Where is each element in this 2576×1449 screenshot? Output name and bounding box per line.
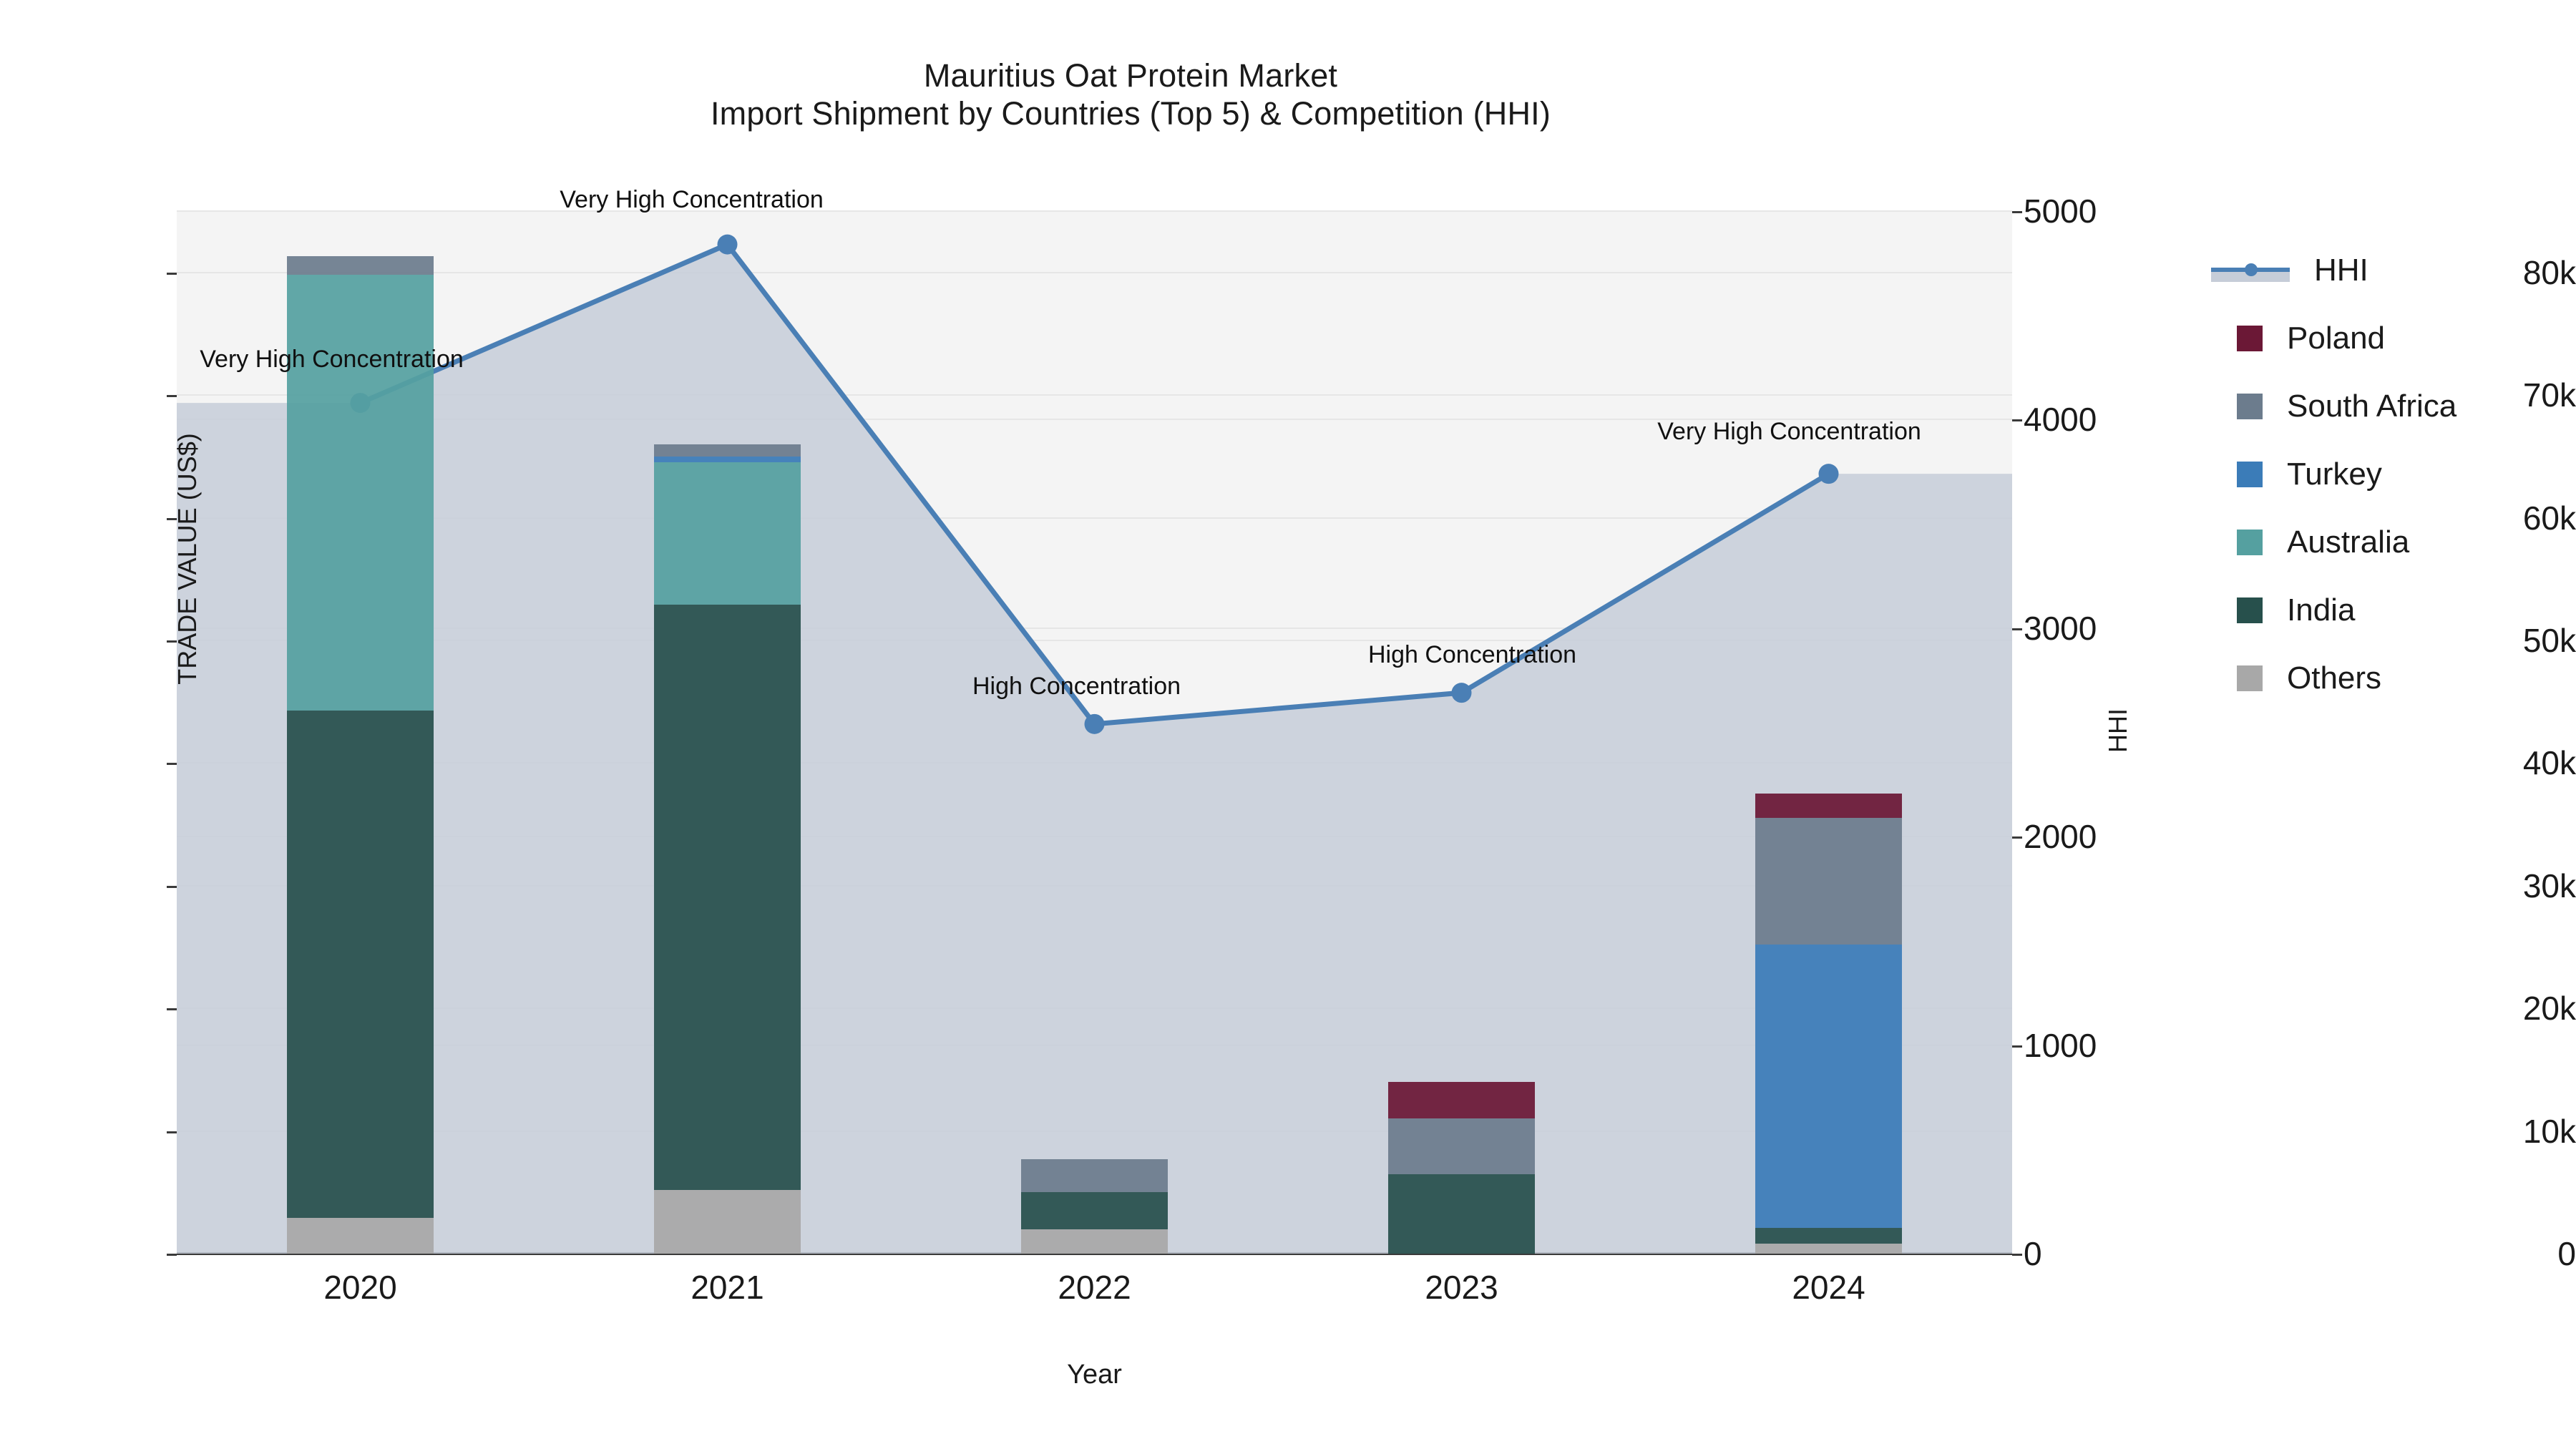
x-axis-tick: 2020 xyxy=(218,1268,504,1307)
legend-item-label: Others xyxy=(2287,660,2381,696)
chart-title-block: Mauritius Oat Protein Market Import Ship… xyxy=(0,57,2576,132)
bar-segment[interactable] xyxy=(287,1218,434,1254)
y-axis-left-tick: 20k xyxy=(2411,989,2576,1028)
gridline xyxy=(177,836,2012,837)
chart-title-line-1: Mauritius Oat Protein Market xyxy=(0,57,2576,95)
bar-segment[interactable] xyxy=(654,462,801,605)
legend-color-swatch xyxy=(2237,597,2263,623)
gridline xyxy=(177,885,2012,887)
chart-title-line-2: Import Shipment by Countries (Top 5) & C… xyxy=(0,95,2576,133)
bar-segment[interactable] xyxy=(287,256,434,275)
concentration-annotation: Very High Concentration xyxy=(200,346,464,374)
y-axis-left-tick: 10k xyxy=(2411,1112,2576,1151)
y-axis-left-tick: 30k xyxy=(2411,867,2576,905)
legend-color-swatch xyxy=(2237,530,2263,555)
gridline xyxy=(177,1131,2012,1132)
legend-color-swatch xyxy=(2237,394,2263,419)
x-axis-tick: 2023 xyxy=(1319,1268,1605,1307)
y-axis-left-tickmark xyxy=(167,886,177,888)
bar-segment[interactable] xyxy=(1021,1229,1168,1254)
legend: HHIPolandSouth AfricaTurkeyAustraliaIndi… xyxy=(2211,236,2569,712)
y-axis-right-tickmark xyxy=(2012,628,2022,630)
bar-segment[interactable] xyxy=(1021,1159,1168,1192)
bar-segment[interactable] xyxy=(1755,818,1902,945)
legend-item-hhi[interactable]: HHI xyxy=(2211,236,2569,304)
legend-item-india[interactable]: India xyxy=(2211,576,2569,644)
y-axis-right-tickmark xyxy=(2012,836,2022,839)
y-axis-left-tickmark xyxy=(167,273,177,275)
y-axis-right-tick: 4000 xyxy=(2024,400,2238,439)
y-axis-right-tickmark xyxy=(2012,211,2022,213)
x-axis-tick: 2024 xyxy=(1686,1268,1972,1307)
y-axis-left-tick: 0 xyxy=(2411,1234,2576,1273)
y-axis-left-tickmark xyxy=(167,1131,177,1133)
legend-item-south-africa[interactable]: South Africa xyxy=(2211,372,2569,440)
bar-segment[interactable] xyxy=(654,444,801,457)
legend-item-turkey[interactable]: Turkey xyxy=(2211,440,2569,508)
bar-segment[interactable] xyxy=(1755,1244,1902,1254)
y-axis-left-tickmark xyxy=(167,763,177,765)
legend-item-australia[interactable]: Australia xyxy=(2211,508,2569,576)
bar-segment[interactable] xyxy=(1388,1082,1535,1118)
y-axis-left-tickmark xyxy=(167,1254,177,1256)
gridline xyxy=(177,640,2012,641)
y-axis-left-label: TRADE VALUE (US$) xyxy=(172,358,203,759)
bar-segment[interactable] xyxy=(1021,1192,1168,1229)
legend-color-swatch xyxy=(2237,665,2263,691)
legend-line-marker-icon xyxy=(2211,258,2290,283)
bar-segment[interactable] xyxy=(1388,1118,1535,1174)
y-axis-right-tick: 5000 xyxy=(2024,192,2238,230)
bar-segment[interactable] xyxy=(654,457,801,463)
legend-item-label: South Africa xyxy=(2287,389,2457,424)
y-axis-left-tick: 40k xyxy=(2411,743,2576,782)
legend-item-others[interactable]: Others xyxy=(2211,644,2569,712)
gridline xyxy=(177,628,2012,629)
bar-segment[interactable] xyxy=(287,275,434,711)
gridline xyxy=(177,517,2012,519)
bar-segment[interactable] xyxy=(1755,1228,1902,1244)
concentration-annotation: Very High Concentration xyxy=(560,186,824,214)
bar-segment[interactable] xyxy=(654,1190,801,1254)
x-axis-label: Year xyxy=(177,1360,2012,1390)
legend-item-label: India xyxy=(2287,592,2355,628)
legend-line-dot xyxy=(2245,263,2258,276)
y-axis-right-tick: 3000 xyxy=(2024,609,2238,648)
concentration-annotation: Very High Concentration xyxy=(1657,418,1921,446)
bar-segment[interactable] xyxy=(654,605,801,1190)
legend-item-label: Australia xyxy=(2287,525,2409,560)
y-axis-left-tickmark xyxy=(167,1008,177,1010)
y-axis-right-tickmark xyxy=(2012,419,2022,421)
y-axis-right-tickmark xyxy=(2012,1045,2022,1048)
y-axis-right-tickmark xyxy=(2012,1254,2022,1256)
concentration-annotation: High Concentration xyxy=(972,673,1181,701)
x-axis-tick: 2021 xyxy=(585,1268,871,1307)
gridline xyxy=(177,210,2012,212)
y-axis-right-tick: 0 xyxy=(2024,1234,2238,1273)
bar-segment[interactable] xyxy=(1755,794,1902,818)
x-axis-tick: 2022 xyxy=(952,1268,1238,1307)
gridline xyxy=(177,272,2012,273)
legend-color-swatch xyxy=(2237,326,2263,351)
legend-item-label: Poland xyxy=(2287,321,2385,356)
y-axis-right-label: HHI xyxy=(2103,645,2133,816)
y-axis-right-tick: 2000 xyxy=(2024,817,2238,856)
gridline xyxy=(177,394,2012,396)
gridline xyxy=(177,1008,2012,1009)
bar-segment[interactable] xyxy=(1755,945,1902,1228)
bar-segment[interactable] xyxy=(1388,1174,1535,1254)
legend-item-poland[interactable]: Poland xyxy=(2211,304,2569,372)
legend-item-label: Turkey xyxy=(2287,457,2382,492)
gridline xyxy=(177,1045,2012,1046)
bar-segment[interactable] xyxy=(287,711,434,1219)
legend-item-label: HHI xyxy=(2314,253,2368,288)
legend-color-swatch xyxy=(2237,462,2263,487)
concentration-annotation: High Concentration xyxy=(1368,641,1576,669)
gridline xyxy=(177,762,2012,763)
y-axis-right-tick: 1000 xyxy=(2024,1026,2238,1065)
